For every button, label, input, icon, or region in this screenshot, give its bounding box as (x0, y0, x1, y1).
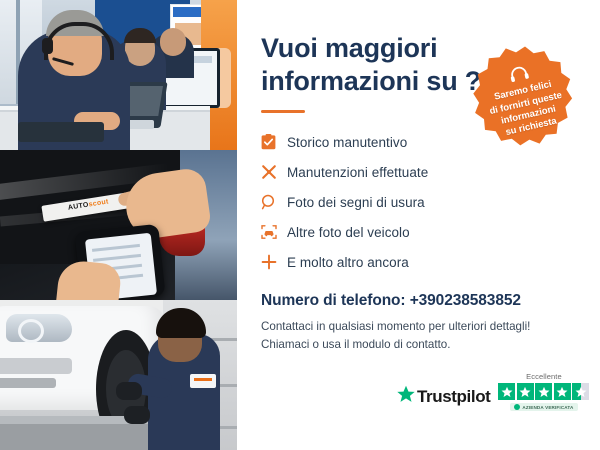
feature-label: Manutenzioni effettuate (287, 165, 428, 180)
trustpilot-rating-label: Eccellente (526, 372, 562, 381)
star-3-icon (535, 383, 552, 400)
mechanic-glove-decor (116, 382, 142, 400)
star-1-icon (498, 383, 515, 400)
photo-column: AUTOscout (0, 0, 237, 450)
star-4-icon (554, 383, 571, 400)
photo-wheel-inspection (0, 300, 237, 450)
feature-item-more-photos: Altre foto del veicolo (261, 218, 511, 246)
person-background-2-head-decor (160, 28, 186, 56)
photo-paint-inspection: AUTOscout (0, 150, 237, 300)
trustpilot-rating: Eccellente AZIENDA VERIFICATA (498, 372, 589, 411)
star-5-half-icon (572, 383, 589, 400)
mechanic-uniform-badge-decor (190, 374, 216, 388)
star-2-icon (517, 383, 534, 400)
feature-label: Foto dei segni di usura (287, 195, 425, 210)
wrench-tools-icon (261, 164, 287, 180)
clipboard-check-icon (261, 134, 287, 150)
page-title: Vuoi maggiori informazioni su ? (261, 32, 491, 99)
mechanic-glove-2-decor (124, 406, 150, 424)
plus-icon (261, 254, 287, 270)
verified-business-badge: AZIENDA VERIFICATA (510, 403, 577, 411)
title-underline-divider (261, 110, 305, 113)
phone-number-label[interactable]: Numero di telefono: +390238583852 (261, 292, 521, 310)
scan-car-icon (261, 224, 287, 240)
front-grille-decor (0, 358, 72, 374)
trustpilot-star-icon (397, 385, 415, 408)
trustpilot-stars (498, 383, 589, 400)
trustpilot-widget[interactable]: Trustpilot Eccellente AZIENDA VERIFICATA (397, 372, 589, 411)
feature-label: Storico manutentivo (287, 135, 407, 150)
desk-tray-decor (18, 122, 104, 142)
trustpilot-wordmark: Trustpilot (417, 387, 490, 407)
headlight-decor (6, 314, 72, 342)
feature-item-maintenance-history: Storico manutentivo (261, 128, 511, 156)
verified-business-label: AZIENDA VERIFICATA (522, 405, 573, 410)
contact-subtext-line-2: Chiamaci o usa il modulo di contatto. (261, 338, 450, 351)
feature-item-maintenance-done: Manutenzioni effettuate (261, 158, 511, 186)
photo-call-center (0, 0, 237, 150)
magnifier-icon (261, 194, 287, 210)
feature-item-wear-photos: Foto dei segni di usura (261, 188, 511, 216)
lower-grille-decor (0, 378, 56, 388)
trustpilot-logo: Trustpilot (397, 385, 490, 408)
promo-card: AUTOscout (0, 0, 600, 450)
headset-icon (508, 65, 531, 84)
feature-list: Storico manutentivo Manutenzioni effettu… (261, 128, 511, 278)
content-panel: Vuoi maggiori informazioni su ? Saremo f… (237, 0, 600, 450)
contact-subtext-line-1: Contattaci in qualsiasi momento per ulte… (261, 320, 530, 333)
agent-headset-pad-decor (42, 38, 53, 54)
verified-check-icon (514, 404, 520, 410)
feature-item-much-more: E molto altro ancora (261, 248, 511, 276)
feature-label: E molto altro ancora (287, 255, 409, 270)
feature-label: Altre foto del veicolo (287, 225, 410, 240)
